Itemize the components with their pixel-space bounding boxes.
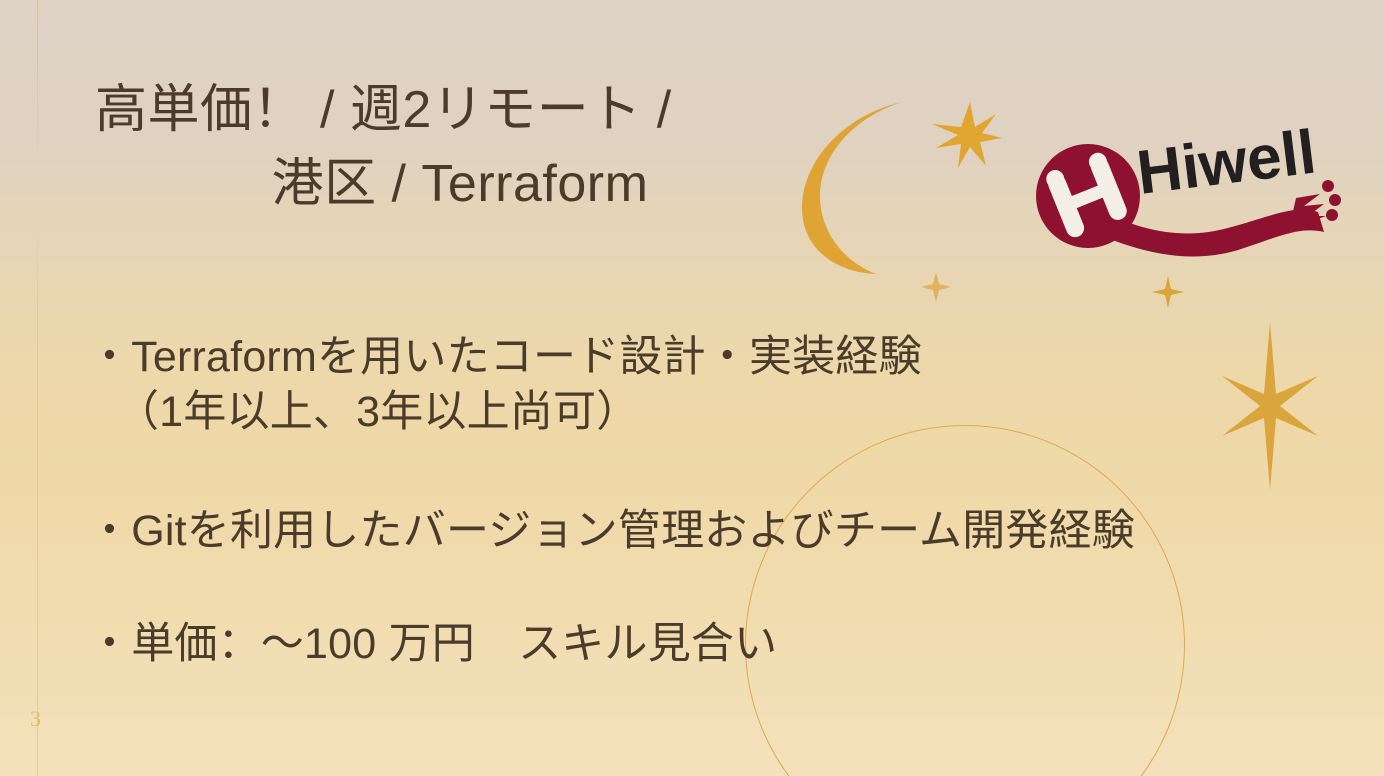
bullet-item-1: ・Terraformを用いたコード設計・実装経験 （1年以上、3年以上尚可） [88,330,1148,440]
bullet-spacer-1 [88,470,1148,504]
bullet-1-line-2: （1年以上、3年以上尚可） [88,385,1148,440]
seven-point-star-icon [928,100,1004,170]
presentation-slide: 高単価！ / 週2リモート / 港区 / Terraform ・Terrafor… [0,0,1384,776]
bullet-spacer-2 [88,589,1148,617]
bullet-3-line-1: ・単価：～100 万円 スキル見合い [88,617,1148,672]
bullet-2-line-1: ・Gitを利用したバージョン管理およびチーム開発経験 [88,504,1148,559]
slide-number: 3 [30,706,42,732]
logo-wordmark: Hiwell [1133,124,1319,208]
bullet-item-2: ・Gitを利用したバージョン管理およびチーム開発経験 [88,504,1148,559]
six-point-star-icon [1222,322,1318,490]
crescent-moon-mini-icon [28,38,48,58]
sparkle-small-right-icon [1152,276,1184,308]
slide-title-line-2: 港区 / Terraform [95,148,855,222]
hiwell-logo: Hiwell [1032,124,1342,258]
bullet-1-line-1: ・Terraformを用いたコード設計・実装経験 [88,330,1148,385]
slide-body: ・Terraformを用いたコード設計・実装経験 （1年以上、3年以上尚可） ・… [88,330,1148,672]
sparkle-small-left-icon [921,272,951,302]
slide-title: 高単価！ / 週2リモート / 港区 / Terraform [95,74,855,222]
bullet-item-3: ・単価：～100 万円 スキル見合い [88,617,1148,672]
slide-title-line-1: 高単価！ / 週2リモート / [95,74,855,148]
left-vertical-rule [37,0,38,776]
